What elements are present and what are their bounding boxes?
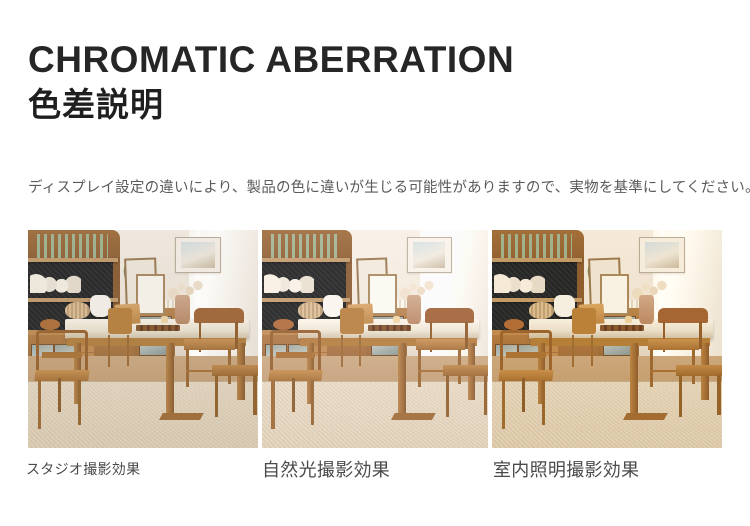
chromatic-aberration-page: CHROMATIC ABERRATION 色差説明 ディスプレイ設定の違いにより… — [0, 0, 750, 526]
vase-icon — [407, 295, 422, 323]
hutch-shelf-upper — [262, 258, 350, 262]
chair-front-left — [499, 330, 568, 430]
gallery-image-natural-light[interactable] — [262, 230, 488, 448]
chair-front-left — [35, 330, 104, 430]
gallery-image-studio[interactable] — [28, 230, 258, 448]
chair-back-left — [337, 308, 373, 369]
cup-left — [161, 316, 168, 323]
chair-front-left — [269, 330, 337, 430]
serving-board — [600, 325, 644, 332]
stool-far-right — [443, 365, 488, 417]
chair-back-left — [104, 308, 141, 369]
stool-far-right — [212, 365, 258, 417]
stacked-plates — [65, 302, 90, 319]
dining-room-photo — [262, 230, 488, 448]
table-leg-middle — [398, 343, 406, 417]
table-leg-middle — [166, 343, 174, 417]
stacked-plates — [298, 302, 323, 319]
photo-gallery — [28, 230, 722, 448]
page-title-japanese: 色差説明 — [28, 87, 728, 124]
serving-board — [368, 325, 411, 332]
dining-room-photo — [492, 230, 722, 448]
stacked-plates — [529, 302, 554, 319]
gallery-image-indoor-lighting[interactable] — [492, 230, 722, 448]
heading-block: CHROMATIC ABERRATION 色差説明 — [28, 40, 728, 124]
framed-art-icon — [175, 237, 221, 274]
stool-far-right — [676, 365, 722, 417]
table-foot — [160, 413, 205, 420]
framed-art-icon — [407, 237, 452, 274]
glass-bottles — [271, 234, 341, 258]
hutch-shelf-upper — [492, 258, 582, 262]
glass-bottles — [37, 234, 108, 258]
caption-row: スタジオ撮影効果 自然光撮影効果 室内照明撮影効果 — [0, 456, 750, 490]
cup-left — [625, 316, 632, 323]
caption-indoor-lighting: 室内照明撮影効果 — [493, 456, 639, 482]
bread-loaf — [273, 319, 293, 330]
framed-art-icon — [639, 237, 685, 274]
caption-natural-light: 自然光撮影効果 — [262, 456, 390, 482]
table-leg-middle — [630, 343, 638, 417]
cup-left — [393, 316, 400, 323]
caption-studio: スタジオ撮影効果 — [26, 459, 140, 479]
hutch-shelf-upper — [28, 258, 118, 262]
disclaimer-text: ディスプレイ設定の違いにより、製品の色に違いが生じる可能性がありますので、実物を… — [28, 178, 728, 200]
serving-board — [136, 325, 180, 332]
table-foot — [624, 413, 669, 420]
vase-icon — [639, 295, 654, 323]
ceramic-crocks — [264, 274, 314, 294]
dining-room-photo — [28, 230, 258, 448]
ceramic-crocks — [494, 274, 545, 294]
vase-icon — [175, 295, 190, 323]
table-foot — [391, 413, 435, 420]
page-title-english: CHROMATIC ABERRATION — [28, 40, 728, 80]
chair-back-left — [568, 308, 605, 369]
ceramic-crocks — [30, 274, 81, 294]
glass-bottles — [501, 234, 572, 258]
